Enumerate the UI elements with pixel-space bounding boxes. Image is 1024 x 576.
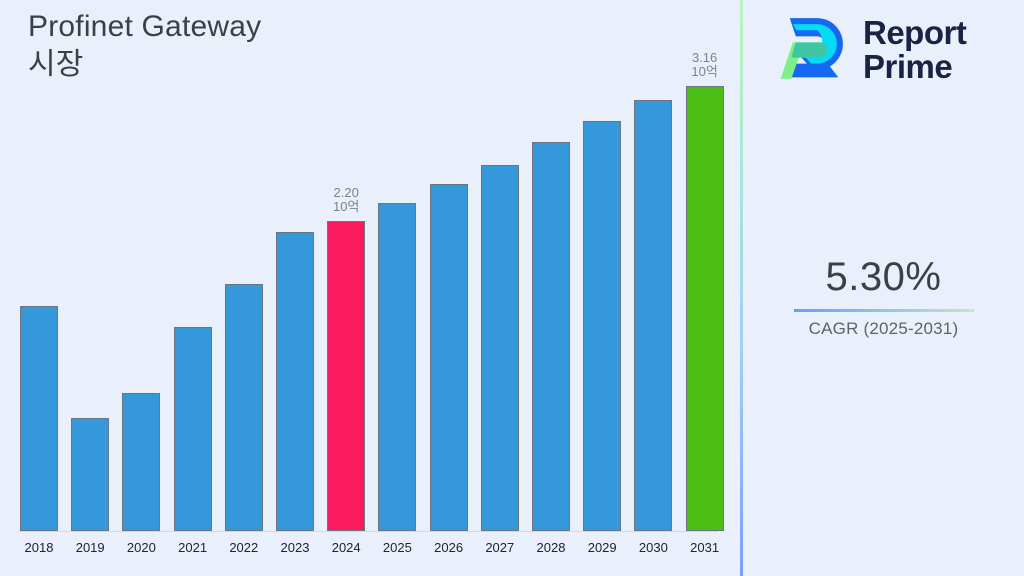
bar-group-2029: 2029 xyxy=(583,121,621,531)
brand-name-line2: Prime xyxy=(863,50,966,84)
x-axis-line xyxy=(18,531,718,532)
bar-2018[interactable] xyxy=(20,306,58,531)
bar-2028[interactable] xyxy=(532,142,570,531)
brand-logo: Report Prime xyxy=(773,12,966,88)
bar-group-2028: 2028 xyxy=(532,142,570,531)
bar-2030[interactable] xyxy=(634,100,672,531)
bar-2027[interactable] xyxy=(481,165,519,531)
chart-panel: Profinet Gateway 시장 20182019202020212022… xyxy=(0,0,740,576)
bar-value-label-2031: 3.16 10억 xyxy=(668,51,742,80)
bar-2023[interactable] xyxy=(276,232,314,531)
bar-group-2027: 2027 xyxy=(481,165,519,531)
bar-group-2023: 2023 xyxy=(276,232,314,531)
bar-group-2026: 2026 xyxy=(430,184,468,531)
bar-2025[interactable] xyxy=(378,203,416,531)
bar-group-2022: 2022 xyxy=(225,284,263,531)
cagr-caption: CAGR (2025-2031) xyxy=(743,319,1024,339)
bar-group-2031: 3.16 10억2031 xyxy=(686,86,724,531)
right-panel: Report Prime 5.30% CAGR (2025-2031) xyxy=(743,0,1024,576)
report-prime-logo-icon xyxy=(773,12,849,88)
bar-group-2020: 2020 xyxy=(122,393,160,531)
bar-group-2018: 2018 xyxy=(20,306,58,531)
cagr-block: 5.30% CAGR (2025-2031) xyxy=(743,255,1024,339)
bar-chart-plot: 2018201920202021202220232.20 10억20242025… xyxy=(0,0,740,576)
bar-2024[interactable] xyxy=(327,221,365,531)
bar-group-2025: 2025 xyxy=(378,203,416,531)
bar-2031[interactable] xyxy=(686,86,724,531)
bar-2021[interactable] xyxy=(174,327,212,531)
bar-2019[interactable] xyxy=(71,418,109,531)
bar-2026[interactable] xyxy=(430,184,468,531)
x-tick-label-2031: 2031 xyxy=(668,540,742,555)
cagr-divider-rule xyxy=(794,309,974,312)
bar-value-label-2024: 2.20 10억 xyxy=(309,186,383,215)
bar-group-2019: 2019 xyxy=(71,418,109,531)
bar-2029[interactable] xyxy=(583,121,621,531)
bar-2022[interactable] xyxy=(225,284,263,531)
bar-2020[interactable] xyxy=(122,393,160,531)
bar-group-2024: 2.20 10억2024 xyxy=(327,221,365,531)
bar-group-2021: 2021 xyxy=(174,327,212,531)
bar-group-2030: 2030 xyxy=(634,100,672,531)
brand-name-line1: Report xyxy=(863,16,966,50)
brand-name: Report Prime xyxy=(863,16,966,83)
cagr-value: 5.30% xyxy=(743,255,1024,300)
